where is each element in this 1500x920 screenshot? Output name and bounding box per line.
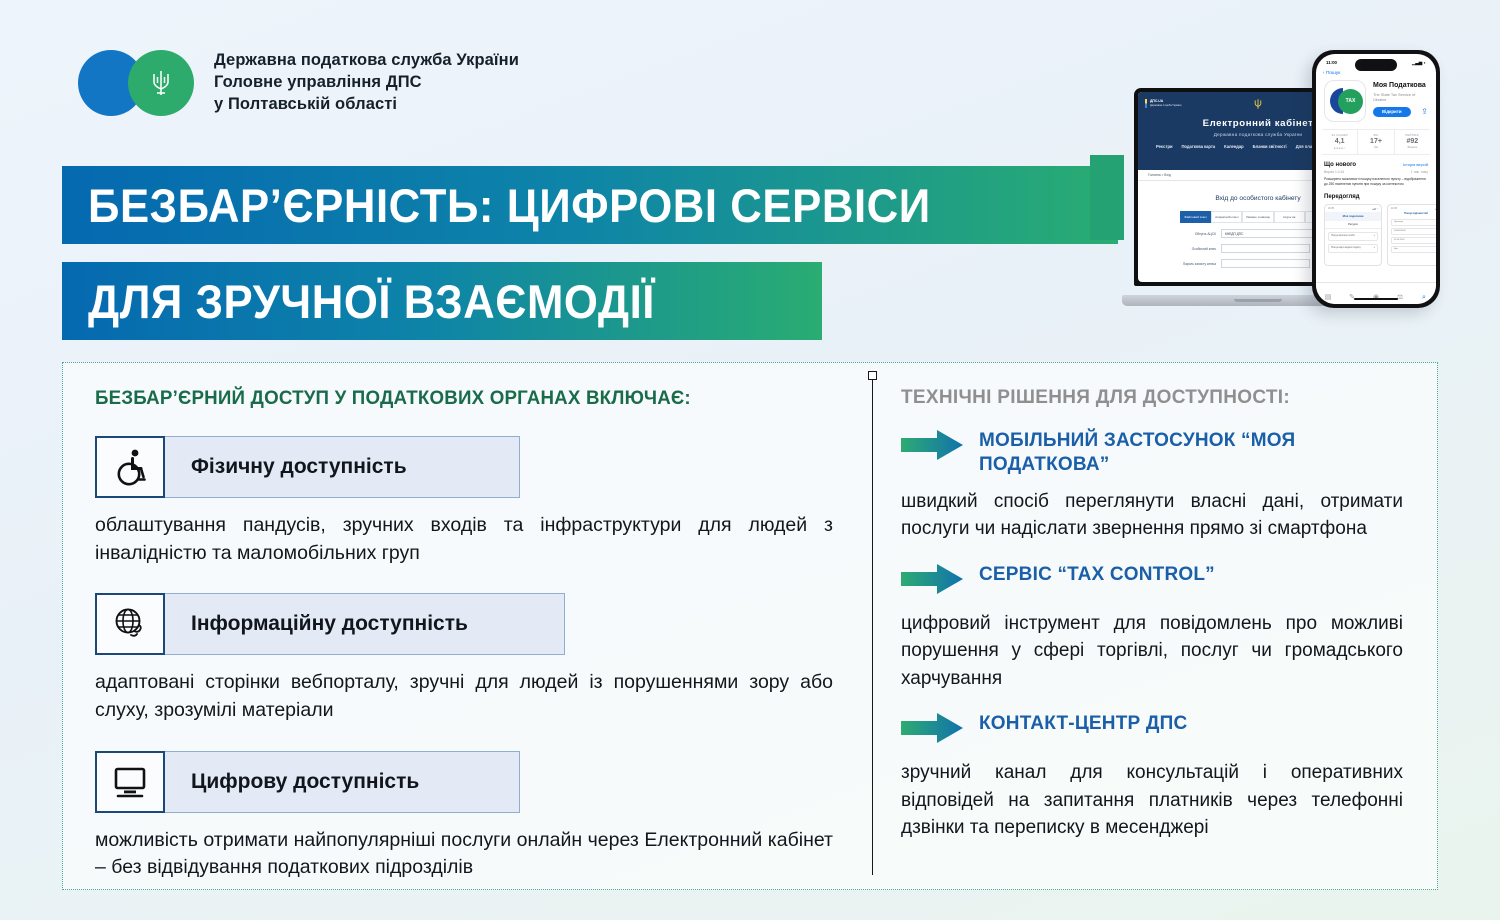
tech-solution-description: зручний канал для консультацій і операти… [901, 759, 1403, 842]
login-tab-cloud[interactable]: Хмарне сховище [1242, 211, 1273, 223]
left-column-heading: БЕЗБАР’ЄРНИЙ ДОСТУП У ПОДАТКОВИХ ОРГАНАХ… [95, 387, 803, 410]
shot2-input: Дані [1391, 246, 1436, 253]
shot1-status-icon: ▂▃ ◗ [1372, 207, 1378, 210]
arrow-right-icon [901, 430, 963, 465]
nav-item[interactable]: Календар [1224, 144, 1244, 149]
accessibility-item-label-box: Інформаційну доступність [165, 593, 565, 655]
org-line-2: Головне управління ДПС [214, 72, 519, 94]
stat-age-value: 17+ [1358, 138, 1393, 145]
accessibility-item: Фізичну доступність [95, 436, 833, 498]
stat-rating: ЗА ОЦІНКИ 4,1 ★★★★☆ [1322, 130, 1358, 154]
app-name: Моя Податкова [1373, 82, 1428, 90]
shot2-time: 10:36 [1391, 207, 1397, 210]
whats-new-title: Що нового [1324, 162, 1356, 168]
stat-rating-value: 4,1 [1322, 138, 1357, 145]
tech-solution-description: швидкий спосіб переглянути власні дані, … [901, 488, 1403, 543]
app-icon-badge: TAX [1338, 89, 1363, 114]
shot1-header: Моя податкова [1325, 212, 1381, 221]
home-indicator [1354, 298, 1398, 301]
shot1-time: 10:35 [1328, 207, 1334, 210]
device-mockup-illustration: ДПС.UA Державна служба України Електронн… [1090, 40, 1500, 330]
acsk-label: Оберіть АЦСК [1180, 232, 1216, 236]
accessibility-item: Цифрову доступність [95, 751, 833, 813]
tech-solution-item: КОНТАКТ-ЦЕНТР ДПС [901, 710, 1403, 748]
version-number: Версія 1.0.34 [1324, 170, 1344, 174]
accessibility-item-label: Цифрову доступність [191, 770, 419, 794]
accessibility-item-label-box: Фізичну доступність [165, 436, 520, 498]
accessibility-item-label-box: Цифрову доступність [165, 751, 520, 813]
key-label: Особистий ключ [1180, 247, 1216, 251]
version-age: 1 тиж. тому [1411, 170, 1428, 174]
stat-age-caption: ВІК [1358, 134, 1393, 137]
stat-age: ВІК 17+ Гри [1358, 130, 1394, 154]
laptop-notch [1234, 299, 1282, 302]
desktop-monitor-icon [95, 751, 165, 813]
shot2-input: Прізвище [1391, 219, 1436, 226]
accessibility-item: Інформаційну доступність [95, 593, 833, 655]
tech-solution-title: КОНТАКТ-ЦЕНТР ДПС [979, 710, 1187, 736]
title-banner-line-2: ДЛЯ ЗРУЧНОЇ ВЗАЄМОДІЇ [62, 262, 822, 340]
login-tab-hardware-key[interactable]: Апаратний ключ [1211, 211, 1242, 223]
login-tab-idgovua[interactable]: id.gov.ua [1274, 211, 1305, 223]
tab-home[interactable]: ▤Головна [1316, 283, 1340, 304]
tab-reports[interactable]: ⚖Звітність [1388, 283, 1412, 304]
key-input[interactable] [1221, 244, 1310, 253]
app-icon-badge-text: TAX [1346, 98, 1356, 104]
shot2-input: 01.06.2000 [1391, 237, 1436, 244]
status-time: 11:00 [1326, 60, 1337, 66]
whats-new-section-header: Що нового Історія версій [1316, 155, 1436, 168]
nav-item[interactable]: Податкова карта [1181, 144, 1215, 149]
brand-flag-icon [1145, 99, 1147, 108]
phone-tab-bar[interactable]: ▤Головна ✎Дія ◉Платежі ⚖Звітність ⌕Пошук [1316, 282, 1436, 304]
share-icon[interactable]: ⇪ [1421, 107, 1428, 116]
stat-rank-category: Фінанси [1395, 146, 1430, 149]
content-panel: БЕЗБАР’ЄРНИЙ ДОСТУП У ПОДАТКОВИХ ОРГАНАХ… [62, 362, 1438, 890]
tab-payments[interactable]: ◉Платежі [1364, 283, 1388, 304]
laptop-trident-icon [1254, 97, 1263, 115]
right-column: ТЕХНІЧНІ РІШЕННЯ ДЛЯ ДОСТУПНОСТІ: МОБІЛЬ… [863, 363, 1437, 889]
stat-rating-caption: ЗА ОЦІНКИ [1322, 134, 1357, 137]
arrow-right-icon [901, 564, 963, 599]
arrow-right-icon [901, 713, 963, 748]
org-line-3: у Полтавській області [214, 94, 519, 116]
stat-chart-rank: РЕЙТИНГ #92 Фінанси [1395, 130, 1430, 154]
shot2-header: Пошук відомостей [1388, 210, 1436, 217]
password-label: Пароль захисту ключа [1180, 262, 1216, 266]
ukraine-trident-icon [150, 68, 172, 98]
tech-solution-item: МОБІЛЬНИЙ ЗАСТОСУНОК “МОЯ ПОДАТКОВА” [901, 427, 1403, 477]
brand-sub: Державна служба України [1150, 104, 1181, 108]
ekabinet-brand: ДПС.UA Державна служба України [1145, 99, 1181, 108]
brand-name: ДПС.UA [1150, 99, 1163, 103]
tab-search[interactable]: ⌕Пошук [1412, 283, 1436, 304]
stat-rating-stars: ★★★★☆ [1322, 146, 1357, 150]
release-notes: Розширено можливості пошуку населеного п… [1316, 174, 1436, 187]
password-input[interactable] [1221, 259, 1310, 268]
logo-green-circle-icon [128, 50, 194, 116]
organization-name: Державна податкова служба України Головн… [214, 50, 519, 115]
title-text-line-2: ДЛЯ ЗРУЧНОЇ ВЗАЄМОДІЇ [88, 278, 655, 325]
phone-mockup: 11:00 ▁▃▅ ◗ ‹ Пошук TAX Моя Податкова Th… [1312, 50, 1440, 308]
title-text-line-1: БЕЗБАР’ЄРНІСТЬ: ЦИФРОВІ СЕРВІСИ [88, 182, 931, 229]
tech-solution-title: СЕРВІС “TAX CONTROL” [979, 561, 1215, 587]
accessibility-item-label: Фізичну доступність [191, 455, 407, 479]
app-icon: TAX [1324, 80, 1366, 122]
divider-handle[interactable] [868, 371, 877, 380]
login-tab-file-key[interactable]: Файловий ключ [1180, 211, 1211, 223]
nav-item[interactable]: Реєстри [1156, 144, 1172, 149]
shot2-status-icon: ▂▃ ◗ [1435, 207, 1436, 210]
tech-solution-item: СЕРВІС “TAX CONTROL” [901, 561, 1403, 599]
org-line-1: Державна податкова служба України [214, 50, 519, 72]
accessibility-item-label: Інформаційну доступність [191, 612, 468, 636]
screenshot-thumb[interactable]: 10:35▂▃ ◗ Моя податкова Ресурси Пошук фі… [1324, 204, 1382, 266]
logo-marks [78, 50, 194, 116]
status-signal-wifi-battery-icon: ▁▃▅ ◗ [1412, 60, 1426, 66]
preview-screenshots[interactable]: 10:35▂▃ ◗ Моя податкова Ресурси Пошук фі… [1316, 200, 1436, 266]
shot1-sub: Ресурси [1325, 221, 1381, 229]
tech-solution-description: цифровий інструмент для повідомлень про … [901, 610, 1403, 693]
back-label: Пошук [1326, 71, 1340, 76]
right-column-heading: ТЕХНІЧНІ РІШЕННЯ ДЛЯ ДОСТУПНОСТІ: [901, 387, 1403, 409]
tab-diia[interactable]: ✎Дія [1340, 283, 1364, 304]
dynamic-island [1355, 59, 1397, 71]
app-developer: The State Tax Service of Ukraine [1373, 92, 1428, 102]
shot1-row: Пошук карти видачі податку+ [1328, 244, 1378, 253]
open-app-button[interactable]: Відкрити [1373, 107, 1411, 117]
screenshot-thumb[interactable]: 10:36▂▃ ◗ Пошук відомостей Прізвище 0000… [1387, 204, 1436, 266]
stat-rank-value: #92 [1395, 138, 1430, 145]
left-column: БЕЗБАР’ЄРНИЙ ДОСТУП У ПОДАТКОВИХ ОРГАНАХ… [63, 363, 863, 889]
column-divider [872, 375, 873, 875]
shot1-row: Пошук фізичної особи+ [1328, 232, 1378, 241]
preview-title: Передогляд [1316, 187, 1436, 200]
nav-item[interactable]: Бланки звітності [1253, 144, 1287, 149]
app-stats-row: ЗА ОЦІНКИ 4,1 ★★★★☆ ВІК 17+ Гри РЕЙТИНГ … [1322, 129, 1430, 155]
tech-solution-title: МОБІЛЬНИЙ ЗАСТОСУНОК “МОЯ ПОДАТКОВА” [979, 427, 1403, 477]
accessibility-item-description: можливість отримати найпопулярніші послу… [95, 827, 833, 882]
acsk-value: КНЕДП ДПС [1225, 232, 1243, 236]
accessibility-item-description: адаптовані сторінки вебпорталу, зручні д… [95, 669, 833, 724]
wheelchair-accessibility-icon [95, 436, 165, 498]
title-banner-line-1: БЕЗБАР’ЄРНІСТЬ: ЦИФРОВІ СЕРВІСИ [62, 166, 1118, 244]
accessibility-item-description: облаштування пандусів, зручних входів та… [95, 512, 833, 567]
stat-rank-caption: РЕЙТИНГ [1395, 134, 1430, 137]
globe-link-icon [95, 593, 165, 655]
shot2-input: 0000000000 [1391, 228, 1436, 235]
version-history-link[interactable]: Історія версій [1403, 162, 1428, 167]
stat-age-sub: Гри [1358, 146, 1393, 149]
green-accent-tab [1090, 155, 1124, 240]
organization-logo-block: Державна податкова служба України Головн… [78, 50, 519, 116]
